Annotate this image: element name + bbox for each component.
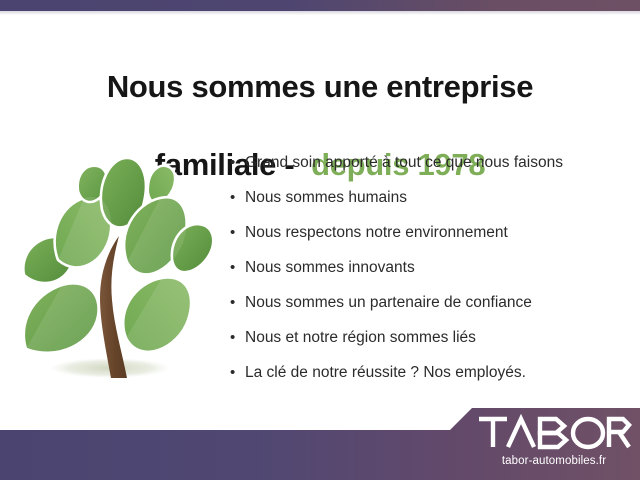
- list-item-label: Nous sommes un partenaire de confiance: [245, 292, 532, 314]
- headline-line-1: Nous sommes une entreprise: [28, 67, 612, 106]
- list-item-label: Nous sommes innovants: [245, 257, 415, 279]
- bullet-dot-icon: •: [230, 257, 245, 279]
- list-item-label: Nous respectons notre environnement: [245, 222, 508, 244]
- bullet-dot-icon: •: [230, 187, 245, 209]
- slide-canvas: Nous sommes une entreprise familiale - d…: [0, 0, 640, 480]
- list-item-label: Grand soin apporté à tout ce que nous fa…: [245, 152, 563, 174]
- list-item-label: La clé de notre réussite ? Nos employés.: [245, 362, 526, 384]
- list-item: • Nous sommes innovants: [230, 257, 626, 292]
- list-item: • Nous sommes humains: [230, 187, 626, 222]
- list-item: • Nous sommes un partenaire de confiance: [230, 292, 626, 327]
- bullet-dot-icon: •: [230, 362, 245, 384]
- list-item: • Nous respectons notre environnement: [230, 222, 626, 257]
- list-item: • Nous et notre région sommes liés: [230, 327, 626, 362]
- top-accent-bar-shadow: [0, 11, 640, 15]
- bullet-dot-icon: •: [230, 152, 245, 174]
- tree-trunk: [100, 236, 127, 378]
- benefits-list: • Grand soin apporté à tout ce que nous …: [230, 152, 626, 397]
- bullet-dot-icon: •: [230, 292, 245, 314]
- list-item-label: Nous sommes humains: [245, 187, 407, 209]
- tree-illustration: [14, 142, 219, 387]
- brand-website-label: tabor-automobiles.fr: [476, 454, 632, 468]
- list-item: • La clé de notre réussite ? Nos employé…: [230, 362, 626, 397]
- bullet-dot-icon: •: [230, 222, 245, 244]
- list-item-label: Nous et notre région sommes liés: [245, 327, 476, 349]
- brand-logo[interactable]: tabor-automobiles.fr: [476, 414, 632, 470]
- bullet-dot-icon: •: [230, 327, 245, 349]
- list-item: • Grand soin apporté à tout ce que nous …: [230, 152, 626, 187]
- tabor-wordmark: [476, 414, 632, 452]
- top-accent-bar: [0, 0, 640, 11]
